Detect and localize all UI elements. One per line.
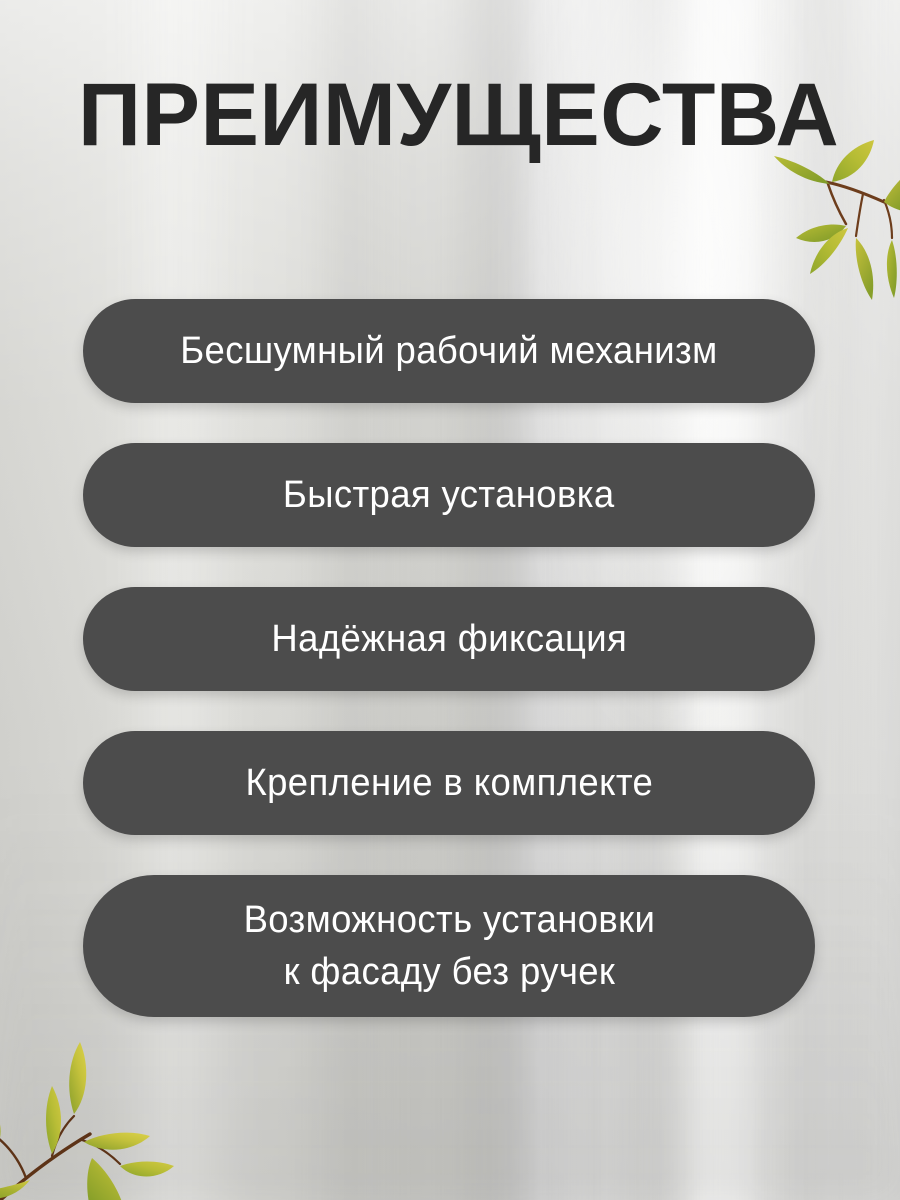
benefits-poster: ПРЕИМУЩЕСТВА Бесшумный рабочий механизм … [0, 0, 900, 1200]
benefit-label: Надёжная фиксация [248, 613, 650, 665]
benefit-item-mount-included: Крепление в комплекте [83, 731, 815, 835]
benefit-item-fast-install: Быстрая установка [83, 443, 815, 547]
page-title: ПРЕИМУЩЕСТВА [78, 70, 811, 159]
benefit-item-reliable-fixation: Надёжная фиксация [83, 587, 815, 691]
benefit-label: Быстрая установка [260, 469, 638, 521]
benefit-item-handleless-facade: Возможность установки к фасаду без ручек [83, 875, 815, 1017]
benefits-list: Бесшумный рабочий механизм Быстрая устан… [83, 299, 815, 1017]
benefit-label: Возможность установки к фасаду без ручек [220, 894, 678, 999]
benefit-label: Бесшумный рабочий механизм [157, 325, 740, 377]
benefit-label-line-2: к фасаду без ручек [243, 946, 655, 998]
benefit-label-line-1: Возможность установки [243, 899, 655, 941]
benefit-label: Крепление в комплекте [222, 757, 676, 809]
benefit-item-quiet-mechanism: Бесшумный рабочий механизм [83, 299, 815, 403]
